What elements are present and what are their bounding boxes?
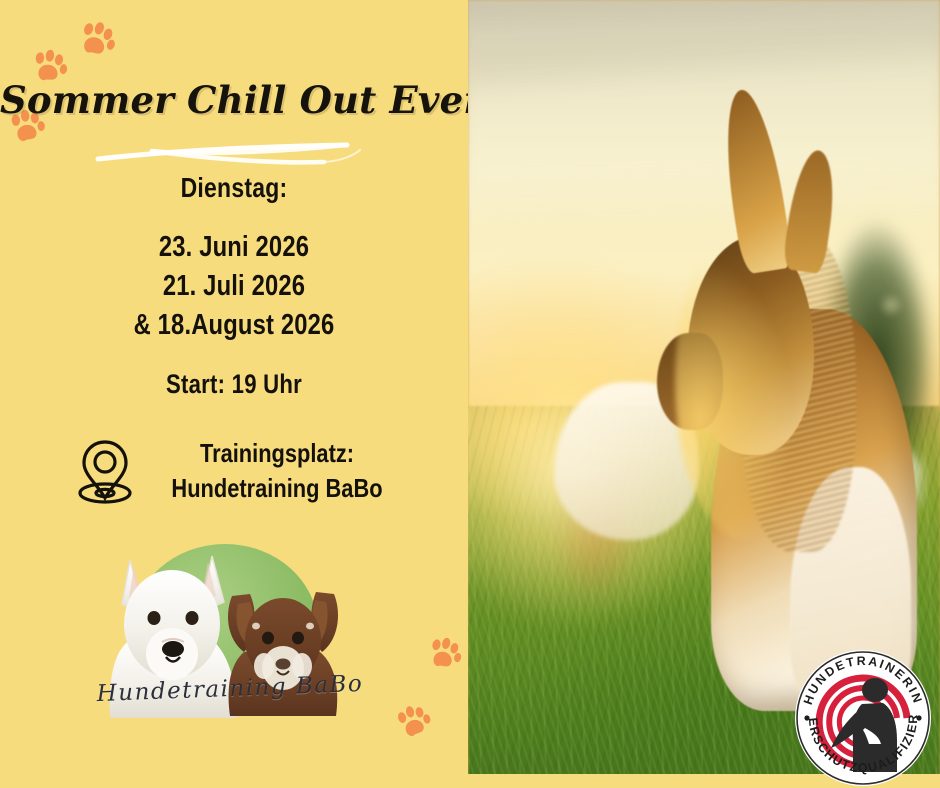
paw-print-icon	[424, 636, 464, 676]
paw-print-icon	[394, 704, 434, 744]
date-item: 21. Juli 2026	[42, 267, 426, 306]
date-list: 23. Juni 2026 21. Juli 2026 & 18.August …	[0, 228, 468, 345]
location-block: Trainingsplatz: Hundetraining BaBo	[74, 436, 404, 506]
date-item: & 18.August 2026	[42, 306, 426, 345]
location-label: Trainingsplatz:	[170, 436, 383, 471]
scribble-underline-icon	[92, 138, 382, 168]
brand-logo: Hundetraining BaBo	[92, 538, 364, 738]
chihuahua-silhouette	[657, 102, 940, 711]
day-label: Dienstag:	[42, 172, 426, 204]
certification-badge: HUNDETRAINERIN TIERSCHUTZQUALIFIZIERT	[793, 648, 933, 788]
paw-print-icon	[74, 20, 118, 64]
dog-rim-light	[675, 223, 814, 540]
poster-title: Sommer Chill Out Event	[0, 78, 468, 122]
location-text: Trainingsplatz: Hundetraining BaBo	[170, 436, 383, 506]
date-item: 23. Juni 2026	[42, 228, 426, 267]
location-name: Hundetraining BaBo	[170, 471, 383, 506]
start-time: Start: 19 Uhr	[42, 369, 426, 400]
info-panel: Sommer Chill Out Event Dienstag: 23. Jun…	[0, 0, 468, 788]
poster-canvas: Sommer Chill Out Event Dienstag: 23. Jun…	[0, 0, 940, 788]
map-pin-icon	[74, 436, 136, 506]
